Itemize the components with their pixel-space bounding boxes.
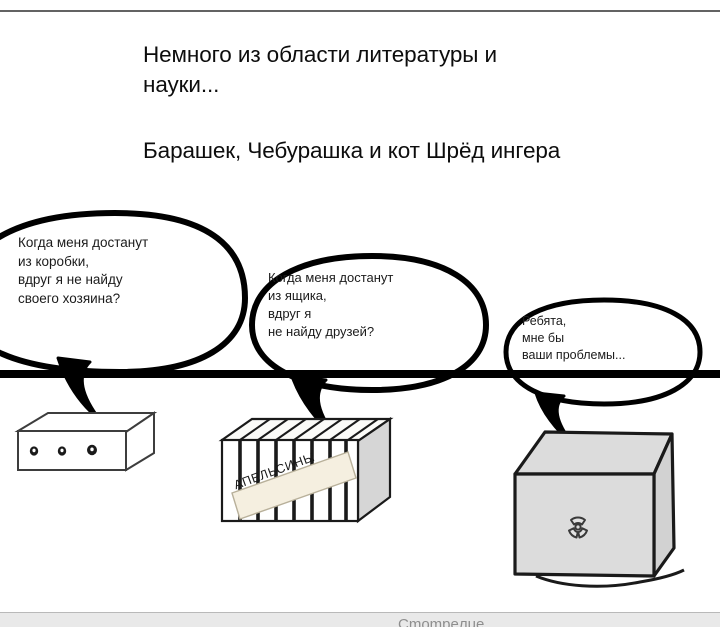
- bottom-cropped-strip: Cmompeлue: [0, 612, 720, 627]
- bottom-strip-text: Cmompeлue: [398, 616, 484, 627]
- comic-image: Немного из области литературы и науки...…: [0, 0, 720, 627]
- speech-bubble-1-text: Когда меня достанут из коробки, вдруг я …: [18, 234, 218, 308]
- radioactive-box: [515, 432, 674, 576]
- toy-box: [18, 413, 154, 470]
- orange-crate: [222, 419, 390, 521]
- speech-bubble-3-text: Ребята, мне бы ваши проблемы...: [522, 313, 702, 364]
- speech-bubble-2-text: Когда меня достанут из ящика, вдруг я не…: [268, 269, 468, 341]
